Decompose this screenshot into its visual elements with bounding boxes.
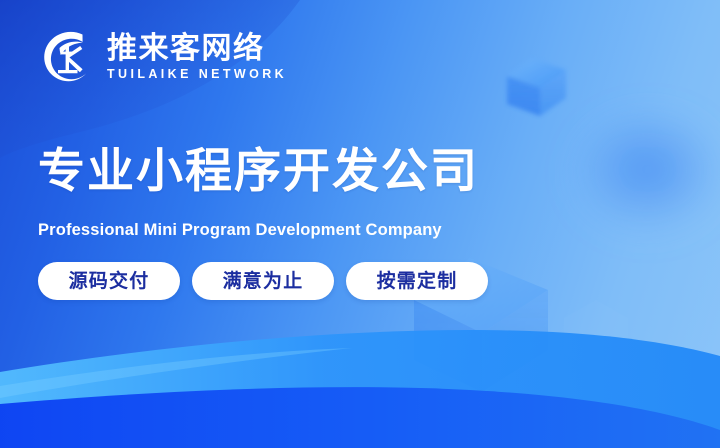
feature-pill-source-delivery[interactable]: 源码交付 (38, 262, 180, 300)
feature-pill-label: 满意为止 (223, 272, 304, 291)
feature-pill-custom[interactable]: 按需定制 (346, 262, 488, 300)
feature-pill-group: 源码交付 满意为止 按需定制 (38, 262, 488, 300)
feature-pill-label: 源码交付 (69, 272, 150, 291)
crescent-circle-tk-monogram-icon (38, 26, 98, 86)
brand-wordmark: 推来客网络 TUILAIKE NETWORK (107, 31, 287, 82)
headline-block: 专业小程序开发公司 Professional Mini Program Deve… (38, 144, 678, 241)
feature-pill-satisfaction[interactable]: 满意为止 (192, 262, 334, 300)
headline-title-cn: 专业小程序开发公司 (38, 144, 678, 200)
headline-title-en: Professional Mini Program Development Co… (38, 200, 678, 241)
promo-banner: 推来客网络 TUILAIKE NETWORK 专业小程序开发公司 Profess… (0, 0, 720, 448)
brand-logo[interactable]: 推来客网络 TUILAIKE NETWORK (38, 26, 287, 86)
small-cube-shape (507, 58, 566, 116)
feature-pill-label: 按需定制 (377, 272, 458, 291)
brand-name-cn: 推来客网络 (107, 33, 287, 65)
brand-name-en: TUILAIKE NETWORK (107, 66, 287, 82)
